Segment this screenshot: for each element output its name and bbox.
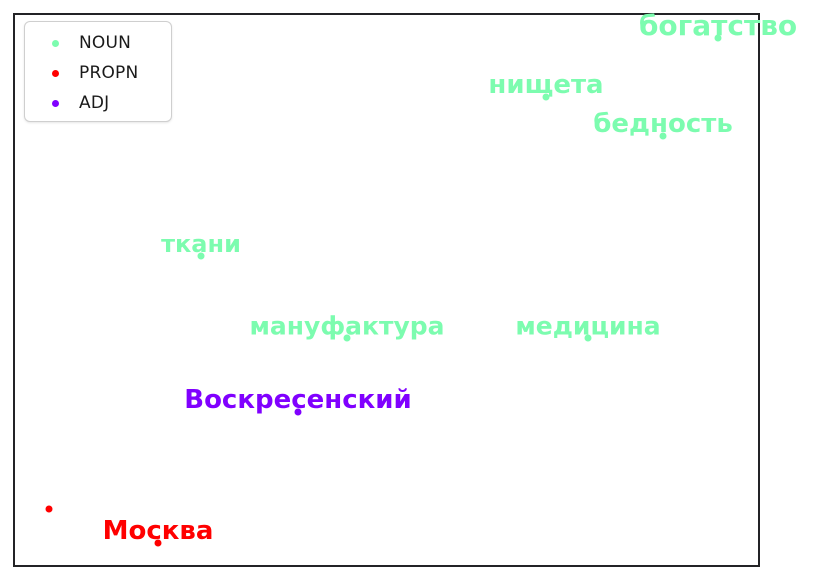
word-label[interactable]: богатство — [639, 12, 797, 40]
word-label[interactable]: Воскресенский — [184, 387, 412, 413]
legend-marker-propn-cell — [31, 70, 79, 77]
legend-dot-icon — [52, 70, 59, 77]
word-label[interactable]: мануфактура — [249, 314, 444, 339]
word-label[interactable]: медицина — [515, 314, 660, 339]
legend-label-adj: ADJ — [79, 93, 109, 113]
scatter-point[interactable] — [46, 506, 53, 513]
part-of-speech-legend: NOUN PROPN ADJ — [24, 21, 172, 122]
word-label[interactable]: бедность — [593, 111, 733, 137]
legend-marker-adj-cell — [31, 100, 79, 107]
legend-entry-adj[interactable]: ADJ — [25, 88, 171, 118]
legend-dot-icon — [52, 40, 59, 47]
legend-label-noun: NOUN — [79, 33, 131, 53]
word-label[interactable]: нищета — [488, 72, 603, 98]
legend-label-propn: PROPN — [79, 63, 138, 83]
legend-dot-icon — [52, 100, 59, 107]
word-embedding-scatter-figure: богатствонищетабедностьтканимануфактурам… — [0, 0, 827, 584]
legend-entry-propn[interactable]: PROPN — [25, 58, 171, 88]
legend-marker-noun-cell — [31, 40, 79, 47]
word-label[interactable]: ткани — [161, 232, 241, 256]
legend-entry-noun[interactable]: NOUN — [25, 28, 171, 58]
word-label[interactable]: Москва — [103, 518, 214, 544]
